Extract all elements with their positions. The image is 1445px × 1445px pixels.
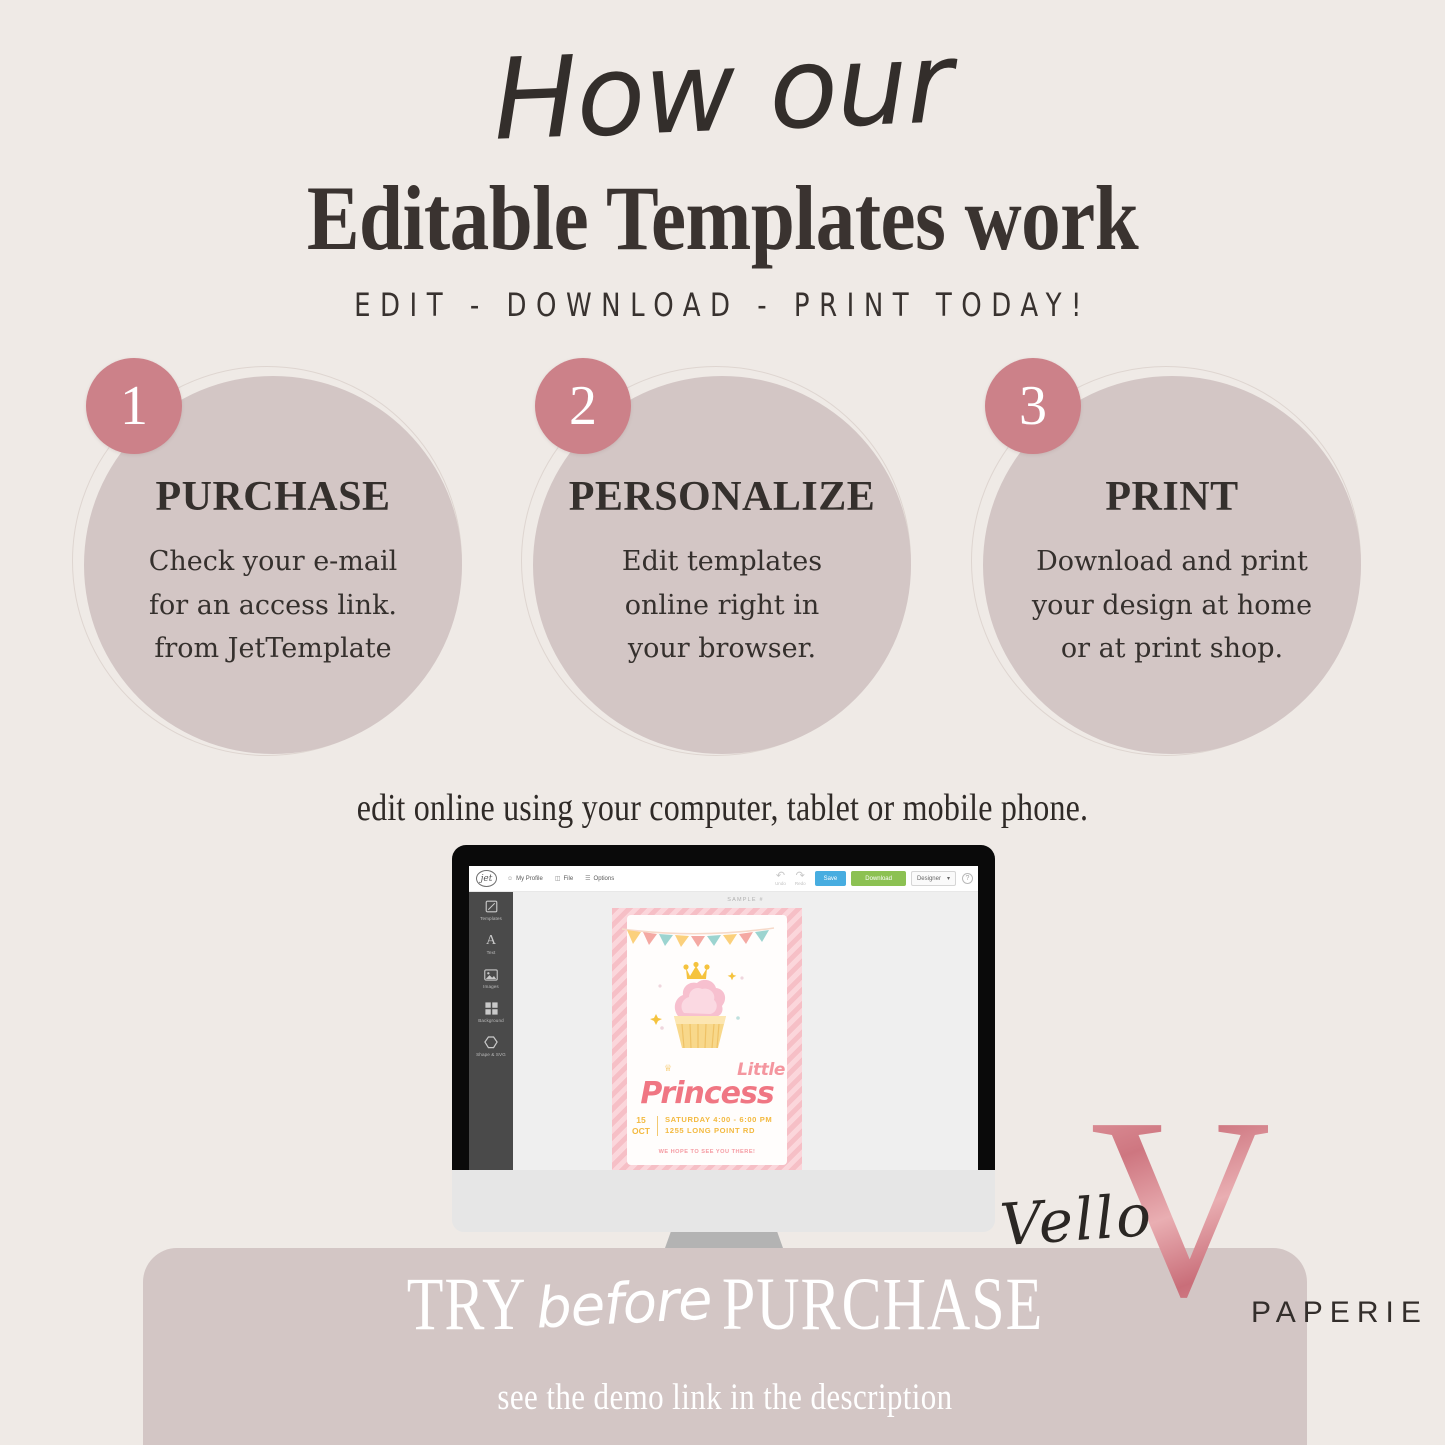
images-icon (484, 967, 499, 982)
steps-row: 1 PURCHASE Check your e-mail for an acce… (0, 358, 1445, 758)
save-button[interactable]: Save (815, 871, 847, 886)
sidebar-label: Images (483, 984, 499, 989)
help-icon[interactable]: ? (962, 873, 973, 884)
file-icon: ◫ (555, 875, 561, 882)
banner-purchase: PURCHASE (722, 1261, 1043, 1347)
editor-canvas[interactable]: SAMPLE # (513, 892, 978, 1170)
invitation-card[interactable]: ♕ Little Princess 15 OCT SATURDAY (612, 908, 802, 1170)
card-title-large: Princess (612, 1076, 802, 1111)
menu-label: My Profile (516, 876, 543, 882)
card-detail-time: SATURDAY 4:00 - 6:00 PM (665, 1115, 772, 1125)
brand-script-name: Vello (998, 1181, 1155, 1260)
step-card-personalize: 2 PERSONALIZE Edit templates online righ… (515, 358, 925, 758)
sidebar-item-background[interactable]: Background (469, 1001, 513, 1023)
step-number-badge: 1 (86, 358, 182, 454)
undo-icon: ↶ (776, 872, 785, 880)
menu-item-my-profile[interactable]: ☺ My Profile (507, 876, 543, 882)
card-detail-address: 1255 LONG POINT RD (665, 1126, 772, 1136)
canvas-sample-tag: SAMPLE # (513, 897, 978, 903)
options-icon: ☰ (585, 875, 590, 882)
monitor-mockup: jet ☺ My Profile ◫ File ☰ Options (452, 845, 995, 1245)
step-description: Edit templates online right in your brow… (622, 540, 822, 671)
menu-item-file[interactable]: ◫ File (555, 875, 573, 882)
redo-label: Redo (795, 881, 806, 886)
sidebar-item-images[interactable]: Images (469, 967, 513, 989)
editor-sidebar: Templates A Text Images (469, 892, 513, 1170)
menu-label: Options (594, 876, 615, 882)
redo-icon: ↷ (796, 872, 805, 880)
poster-canvas: How our Editable Templates work EDIT - D… (0, 0, 1445, 1445)
download-button[interactable]: Download (851, 871, 906, 886)
banner-before: before (535, 1267, 714, 1341)
step-card-purchase: 1 PURCHASE Check your e-mail for an acce… (66, 358, 476, 758)
crown-icon: ♕ (664, 1063, 672, 1074)
step-description: Check your e-mail for an access link. fr… (149, 540, 398, 671)
chevron-down-icon: ▾ (947, 875, 950, 882)
sidebar-item-shape-svg[interactable]: Shape & SVG (469, 1035, 513, 1057)
editor-screen: jet ☺ My Profile ◫ File ☰ Options (469, 866, 978, 1170)
undo-button[interactable]: ↶ Undo (775, 872, 786, 886)
step-number-badge: 3 (985, 358, 1081, 454)
card-date: 15 OCT (632, 1115, 650, 1136)
cupcake-icon (648, 956, 752, 1052)
redo-button[interactable]: ↷ Redo (795, 872, 806, 886)
monitor-bezel: jet ☺ My Profile ◫ File ☰ Options (452, 845, 995, 1170)
menu-label: File (563, 876, 573, 882)
shape-svg-icon (484, 1035, 499, 1050)
card-detail-lines: SATURDAY 4:00 - 6:00 PM 1255 LONG POINT … (665, 1115, 772, 1136)
edit-online-caption: edit online using your computer, tablet … (0, 785, 1445, 829)
banner-subline: see the demo link in the description (143, 1376, 1307, 1418)
sidebar-item-templates[interactable]: Templates (469, 899, 513, 921)
step-number-badge: 2 (535, 358, 631, 454)
step-card-print: 3 PRINT Download and print your design a… (965, 358, 1375, 758)
role-dropdown[interactable]: Designer ▾ (911, 871, 956, 886)
step-heading: PURCHASE (155, 473, 390, 521)
page-subtitle: EDIT - DOWNLOAD - PRINT TODAY! (0, 288, 1445, 325)
role-label: Designer (917, 876, 941, 882)
page-title: Editable Templates work (0, 168, 1445, 272)
text-icon: A (484, 933, 499, 948)
card-divider (657, 1116, 658, 1136)
editor-body: Templates A Text Images (469, 892, 978, 1170)
background-icon (484, 1001, 499, 1016)
sidebar-label: Shape & SVG (476, 1052, 506, 1057)
brand-logo: V Vello PAPERIE (1000, 1078, 1400, 1298)
sidebar-label: Text (487, 950, 496, 955)
card-note: WE HOPE TO SEE YOU THERE! (612, 1149, 802, 1155)
brand-word: PAPERIE (1251, 1296, 1428, 1330)
user-icon: ☺ (507, 876, 513, 882)
monitor-chin (452, 1170, 995, 1232)
step-heading: PRINT (1105, 473, 1238, 521)
templates-icon (484, 899, 499, 914)
step-heading: PERSONALIZE (569, 473, 876, 521)
page-title-script: How our (0, 6, 1445, 179)
card-date-month: OCT (632, 1126, 650, 1137)
editor-toolbar: jet ☺ My Profile ◫ File ☰ Options (469, 866, 978, 892)
undo-label: Undo (775, 881, 786, 886)
step-description: Download and print your design at home o… (1032, 540, 1312, 671)
bunting-icon (621, 926, 775, 952)
jet-logo[interactable]: jet (476, 870, 497, 887)
sidebar-label: Background (478, 1018, 504, 1023)
card-details: 15 OCT SATURDAY 4:00 - 6:00 PM 1255 LONG… (632, 1115, 790, 1136)
menu-item-options[interactable]: ☰ Options (585, 875, 614, 882)
card-date-day: 15 (632, 1115, 650, 1126)
sidebar-item-text[interactable]: A Text (469, 933, 513, 955)
sidebar-label: Templates (480, 916, 502, 921)
banner-try: TRY (407, 1261, 527, 1347)
